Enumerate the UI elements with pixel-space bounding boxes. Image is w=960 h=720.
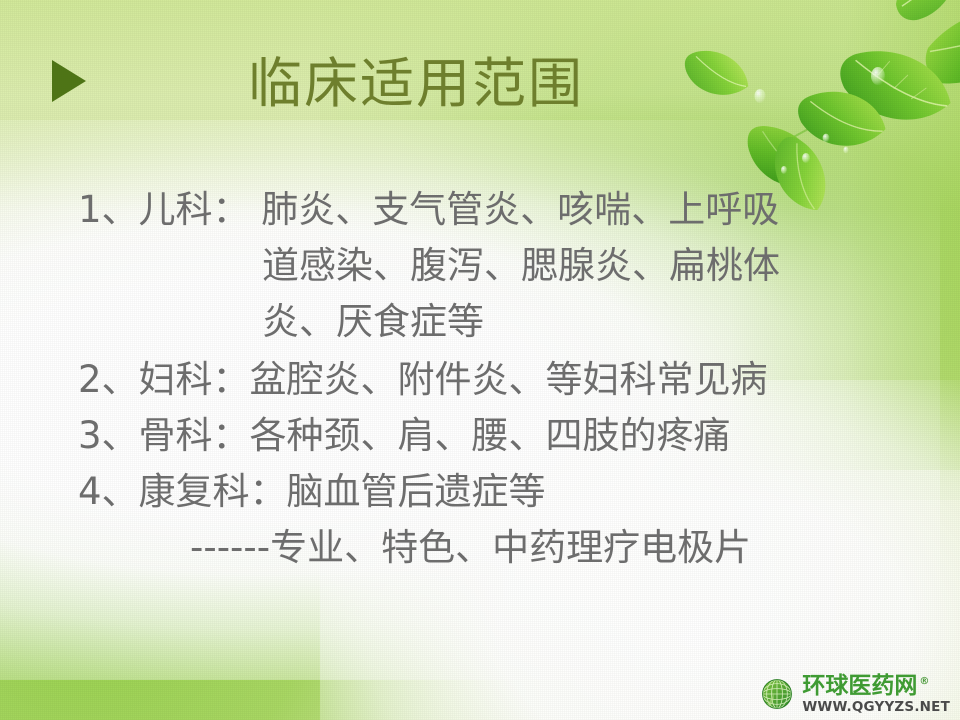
body-line: 2、妇科：盆腔炎、附件炎、等妇科常见病 [0, 352, 960, 408]
body-line: 道感染、腹泻、腮腺炎、扁桃体 [0, 238, 960, 294]
registered-mark-icon: ® [919, 676, 929, 687]
globe-icon [759, 676, 795, 712]
watermark-brand-label: 环球医药网 [802, 673, 917, 699]
body-line: 炎、厌食症等 [0, 294, 960, 350]
watermark-text: 环球医药网® WWW.QGYYZS.NET [802, 675, 950, 715]
slide-body: 1、儿科： 肺炎、支气管炎、咳喘、上呼吸 道感染、腹泻、腮腺炎、扁桃体 炎、厌食… [0, 182, 960, 576]
body-line: ------专业、特色、中药理疗电极片 [0, 520, 960, 576]
watermark-logo: 环球医药网® WWW.QGYYZS.NET [759, 675, 950, 715]
page-title: 临床适用范围 [248, 50, 584, 118]
watermark-url: WWW.QGYYZS.NET [802, 701, 950, 715]
body-line: 4、康复科：脑血管后遗症等 [0, 464, 960, 520]
watermark-brand: 环球医药网® [802, 675, 950, 698]
body-line: 1、儿科： 肺炎、支气管炎、咳喘、上呼吸 [0, 182, 960, 238]
presentation-slide: 临床适用范围 1、儿科： 肺炎、支气管炎、咳喘、上呼吸 道感染、腹泻、腮腺炎、扁… [0, 0, 960, 720]
triangle-right-icon [52, 60, 86, 102]
body-line: 3、骨科：各种颈、肩、腰、四肢的疼痛 [0, 408, 960, 464]
title-row: 临床适用范围 [0, 50, 960, 126]
